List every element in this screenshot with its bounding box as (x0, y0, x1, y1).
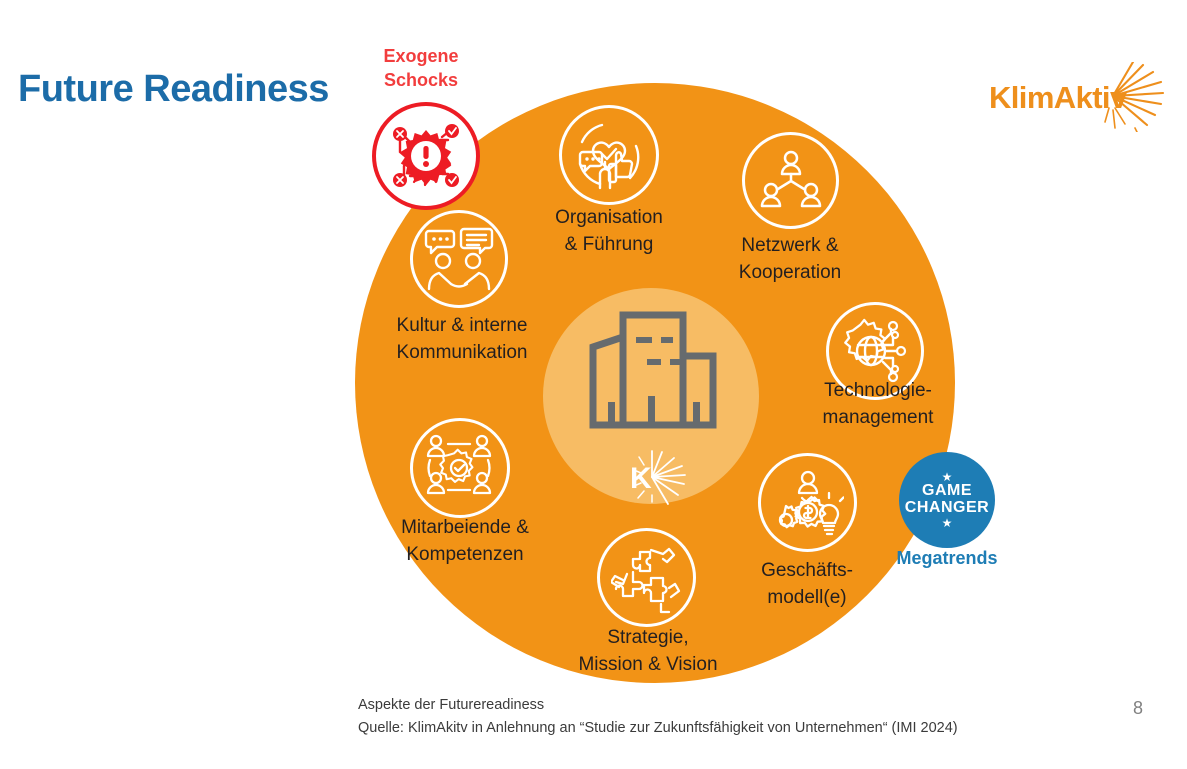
buildings-icon (585, 310, 719, 434)
aspect-label-organisation: Organisation & Führung (509, 205, 709, 259)
aspect-label-line1: Strategie, (548, 625, 748, 652)
aspect-label-geschaeftsmodell: Geschäfts- modell(e) (712, 558, 902, 612)
footer-line2: Quelle: KlimAkitv in Anlehnung an “Studi… (358, 717, 958, 740)
slide-canvas: Future Readiness KlimAktiv (0, 0, 1187, 769)
aspect-label-line2: Kooperation (690, 260, 890, 287)
aspect-label-line1: Organisation (509, 205, 709, 232)
klimaktiv-logo: KlimAktiv (989, 62, 1169, 132)
aspect-label-line1: Kultur & interne (362, 313, 562, 340)
footer-line1: Aspekte der Futurereadiness (358, 694, 958, 717)
page-number: 8 (1133, 698, 1143, 719)
team-gear-check-icon[interactable] (410, 418, 510, 518)
footer-source: Aspekte der Futurereadiness Quelle: Klim… (358, 694, 958, 741)
exogenous-shocks-label-line2: Schocks (356, 68, 486, 92)
exogenous-shocks-label: Exogene Schocks (356, 44, 486, 93)
puzzle-hands-icon[interactable] (597, 528, 696, 627)
aspect-label-line2: Mission & Vision (548, 652, 748, 679)
heart-check-thumbsup-icon[interactable] (559, 105, 659, 205)
k-letter: K (630, 464, 652, 494)
people-network-icon[interactable] (742, 132, 839, 229)
aspect-label-line1: Geschäfts- (712, 558, 902, 585)
aspect-label-line1: Technologie- (772, 378, 984, 405)
aspect-label-line2: management (772, 405, 984, 432)
game-changer-line2: CHANGER (905, 500, 989, 517)
aspect-label-technologie: Technologie- management (772, 378, 984, 432)
star-icon-bottom: ★ (942, 517, 953, 529)
business-model-icon[interactable] (758, 453, 857, 552)
aspect-label-line2: Kommunikation (362, 340, 562, 367)
aspect-label-line1: Mitarbeiende & (365, 515, 565, 542)
page-title: Future Readiness (18, 68, 329, 111)
aspect-label-strategie: Strategie, Mission & Vision (548, 625, 748, 679)
aspect-label-line1: Netzwerk & (690, 233, 890, 260)
game-changer-line1: GAME (922, 483, 972, 500)
sunburst-icon (1103, 62, 1165, 132)
k-sunburst-icon: K (622, 450, 692, 510)
aspect-label-line2: modell(e) (712, 585, 902, 612)
gear-warning-icon[interactable] (372, 102, 480, 210)
aspect-label-mitarbeitende: Mitarbeiende & Kompetenzen (365, 515, 565, 569)
aspect-label-line2: & Führung (509, 232, 709, 259)
game-changer-badge[interactable]: ★ GAME CHANGER ★ (899, 452, 995, 548)
megatrends-label: Megatrends (880, 548, 1014, 569)
exogenous-shocks-label-line1: Exogene (356, 44, 486, 68)
aspect-label-line2: Kompetenzen (365, 542, 565, 569)
aspect-label-netzwerk: Netzwerk & Kooperation (690, 233, 890, 287)
aspect-label-kultur: Kultur & interne Kommunikation (362, 313, 562, 367)
two-people-chat-icon[interactable] (410, 210, 508, 308)
